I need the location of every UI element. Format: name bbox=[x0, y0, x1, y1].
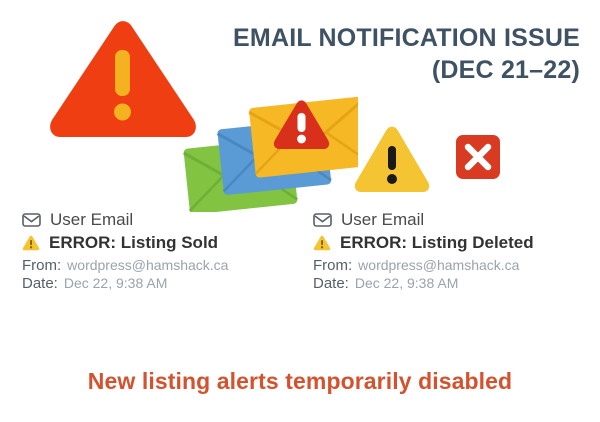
date-value: Dec 22, 9:38 AM bbox=[64, 275, 168, 291]
from-row: From: wordpress@hamshack.ca bbox=[22, 257, 307, 274]
error-row: ERROR: Listing Deleted bbox=[313, 232, 598, 253]
date-label: Date: bbox=[313, 275, 349, 292]
user-email-row: User Email bbox=[313, 210, 598, 230]
user-email-label: User Email bbox=[341, 210, 424, 230]
envelope-stack-icon bbox=[178, 92, 358, 212]
status-message: New listing alerts temporarily disabled bbox=[0, 368, 600, 395]
warning-triangle-icon bbox=[313, 235, 331, 251]
from-value: wordpress@hamshack.ca bbox=[67, 257, 228, 273]
date-value: Dec 22, 9:38 AM bbox=[355, 275, 459, 291]
user-email-label: User Email bbox=[50, 210, 133, 230]
envelope-icon bbox=[22, 213, 41, 227]
email-notification-card: User Email ERROR: Listing Deleted From: … bbox=[313, 210, 598, 293]
notification-issue-poster: User Email ERROR: Listing Sold From: wor… bbox=[0, 0, 600, 422]
date-row: Date: Dec 22, 9:38 AM bbox=[313, 275, 598, 292]
from-label: From: bbox=[22, 257, 61, 274]
date-row: Date: Dec 22, 9:38 AM bbox=[22, 275, 307, 292]
email-notification-card: User Email ERROR: Listing Sold From: wor… bbox=[22, 210, 307, 293]
from-row: From: wordpress@hamshack.ca bbox=[313, 257, 598, 274]
envelope-icon bbox=[313, 213, 332, 227]
error-message: ERROR: Listing Deleted bbox=[340, 233, 534, 253]
warning-triangle-icon bbox=[352, 124, 432, 196]
from-label: From: bbox=[313, 257, 352, 274]
user-email-row: User Email bbox=[22, 210, 307, 230]
close-x-icon bbox=[455, 134, 501, 180]
error-row: ERROR: Listing Sold bbox=[22, 232, 307, 253]
error-message: ERROR: Listing Sold bbox=[49, 233, 218, 253]
warning-triangle-icon bbox=[22, 235, 40, 251]
date-label: Date: bbox=[22, 275, 58, 292]
page-title: EMAIL NOTIFICATION ISSUE (DEC 21–22) bbox=[190, 24, 580, 85]
from-value: wordpress@hamshack.ca bbox=[358, 257, 519, 273]
title-line-1: EMAIL NOTIFICATION ISSUE bbox=[190, 24, 580, 52]
title-line-2: (DEC 21–22) bbox=[190, 56, 580, 85]
